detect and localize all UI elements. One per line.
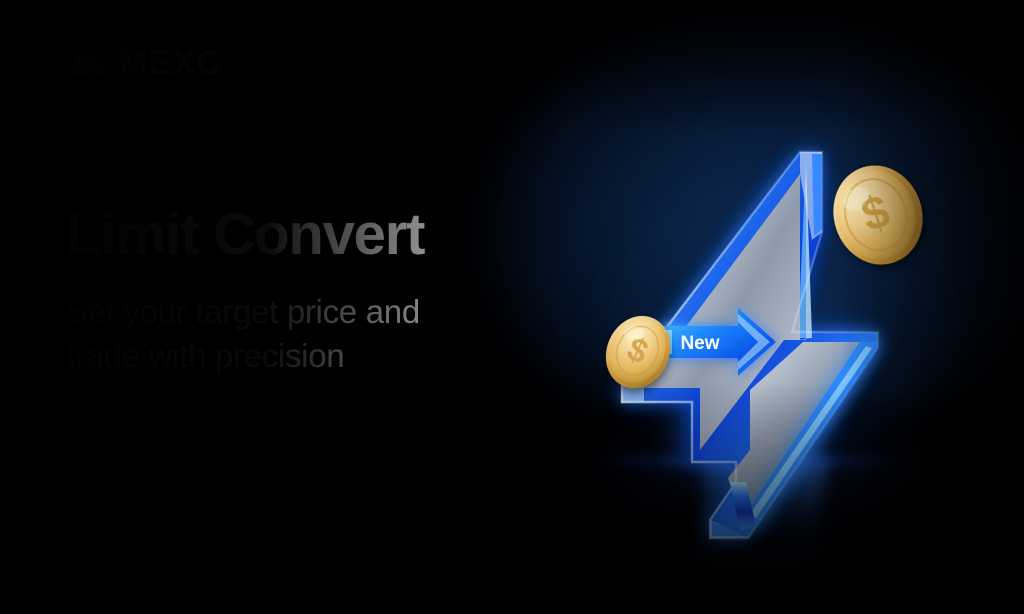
mexc-mountain-icon xyxy=(66,48,106,78)
brand-logo[interactable]: MEXC xyxy=(66,46,222,80)
brand-name: MEXC xyxy=(119,46,222,80)
hero-subtitle-line-2: trade with precision xyxy=(66,334,536,378)
new-badge-label: New xyxy=(680,333,719,354)
page-title: Limit Convert xyxy=(66,205,536,266)
dollar-coin-upper-right: $ xyxy=(821,154,936,276)
hero-subtitle-line-1: Set your target price and xyxy=(66,290,536,334)
promo-banner: MEXC Limit Convert Set your target price… xyxy=(0,0,1024,614)
hero-artwork: New $ $ xyxy=(560,90,1000,570)
hero-copy: Limit Convert Set your target price and … xyxy=(66,205,536,378)
hero-subtitle: Set your target price and trade with pre… xyxy=(66,290,536,378)
